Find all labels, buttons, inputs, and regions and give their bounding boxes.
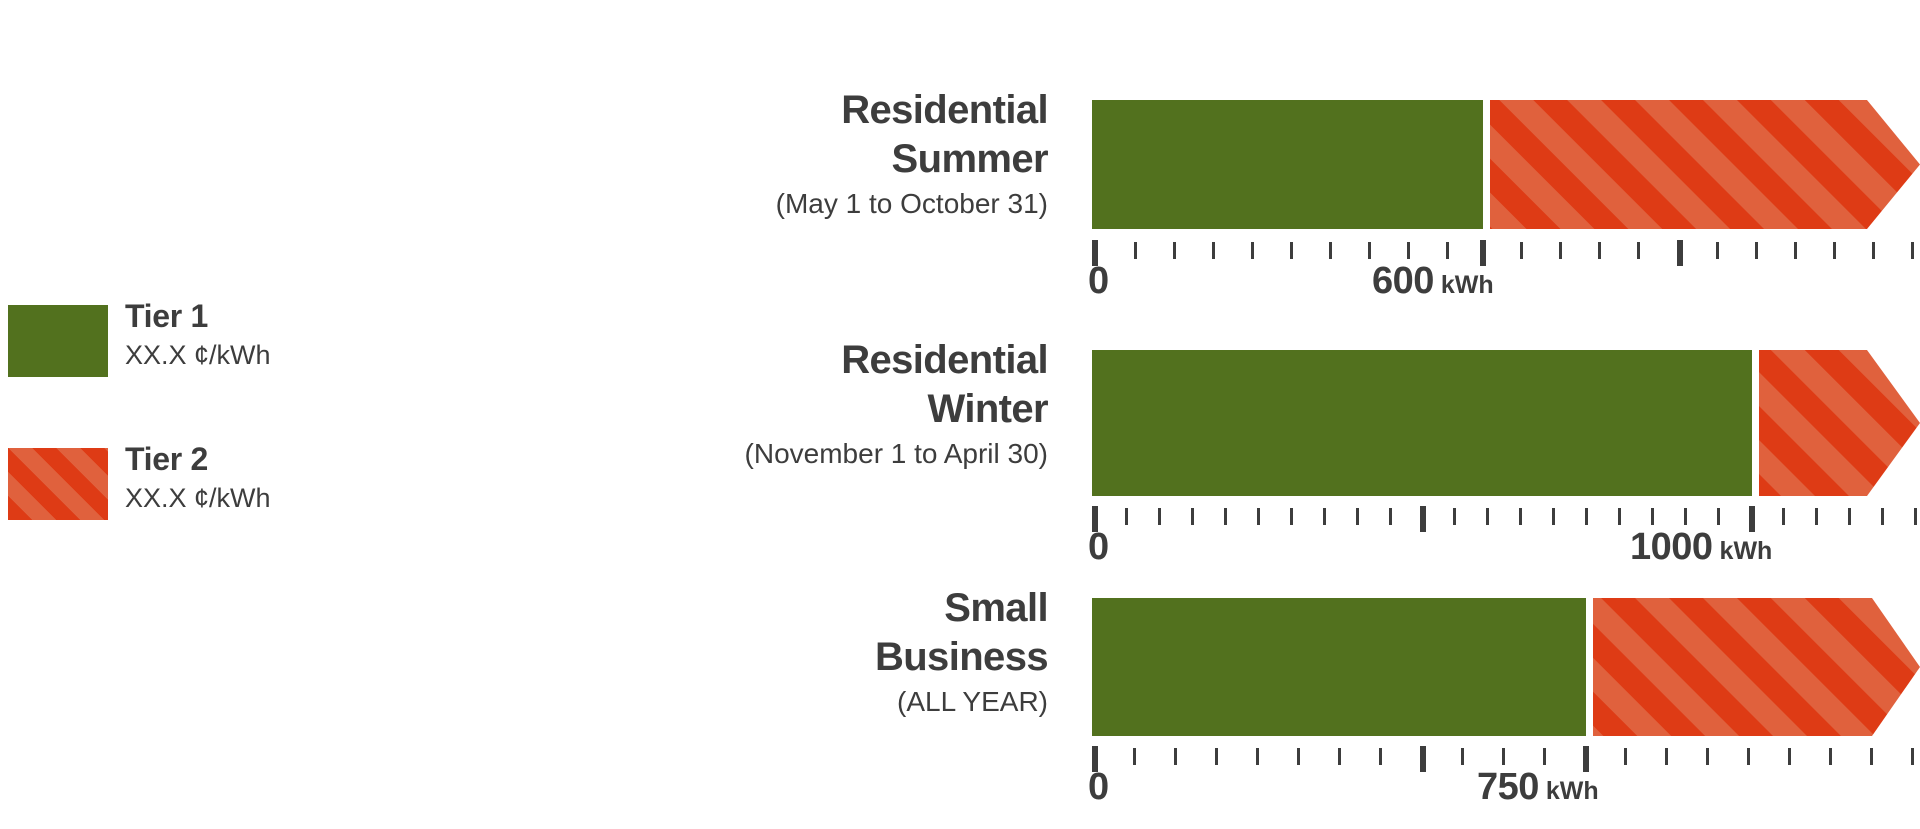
axis-label-threshold: 600kWh bbox=[1372, 258, 1494, 312]
row-title-line1: Residential bbox=[408, 336, 1048, 385]
axis-ticks-residential-winter bbox=[1092, 506, 1920, 532]
axis-label-threshold: 1000kWh bbox=[1630, 524, 1772, 578]
bar-residential-winter-svg bbox=[1092, 350, 1920, 496]
bar-residential-summer bbox=[1092, 100, 1920, 229]
row-period-label: (ALL YEAR) bbox=[408, 682, 1048, 722]
axis-labels-residential-summer: 0 600kWh bbox=[1092, 266, 1920, 312]
axis-labels-residential-winter: 0 1000kWh bbox=[1092, 532, 1920, 578]
axis-unit-label: kWh bbox=[1720, 537, 1773, 565]
bar-residential-winter bbox=[1092, 350, 1920, 496]
axis-labels-small-business: 0 750kWh bbox=[1092, 772, 1920, 818]
row-title-line1: Small bbox=[408, 584, 1048, 633]
row-period-label: (November 1 to April 30) bbox=[408, 434, 1048, 474]
tier-threshold-chart: Residential Summer (May 1 to October 31) bbox=[0, 0, 1920, 829]
tier1-segment bbox=[1092, 350, 1752, 496]
axis-label-zero: 0 bbox=[1088, 764, 1109, 818]
axis-ticks-residential-summer bbox=[1092, 240, 1920, 266]
axis-zero-value: 0 bbox=[1088, 766, 1109, 808]
tier2-segment bbox=[1593, 598, 1920, 736]
row-label-residential-winter: Residential Winter (November 1 to April … bbox=[408, 336, 1048, 474]
row-period-label: (May 1 to October 31) bbox=[408, 184, 1048, 224]
axis-zero-value: 0 bbox=[1088, 260, 1109, 302]
axis-threshold-value: 600 bbox=[1372, 260, 1434, 302]
tier1-segment bbox=[1092, 100, 1483, 229]
bar-small-business bbox=[1092, 598, 1920, 736]
axis-label-zero: 0 bbox=[1088, 258, 1109, 312]
axis-unit-label: kWh bbox=[1546, 777, 1599, 805]
row-label-small-business: Small Business (ALL YEAR) bbox=[408, 584, 1048, 722]
row-title-line2: Summer bbox=[408, 135, 1048, 184]
row-label-residential-summer: Residential Summer (May 1 to October 31) bbox=[408, 86, 1048, 224]
tier2-segment bbox=[1490, 100, 1920, 229]
tier1-segment bbox=[1092, 598, 1586, 736]
tier2-segment bbox=[1759, 350, 1920, 496]
axis-zero-value: 0 bbox=[1088, 526, 1109, 568]
axis-label-threshold: 750kWh bbox=[1477, 764, 1599, 818]
bar-residential-summer-svg bbox=[1092, 100, 1920, 229]
axis-residential-summer bbox=[1092, 240, 1920, 266]
axis-label-zero: 0 bbox=[1088, 524, 1109, 578]
axis-threshold-value: 750 bbox=[1477, 766, 1539, 808]
axis-residential-winter bbox=[1092, 506, 1920, 532]
row-title-line2: Winter bbox=[408, 385, 1048, 434]
bar-small-business-svg bbox=[1092, 598, 1920, 736]
infographic-canvas: Tier 1 XX.X ¢/kWh Tier 2 XX.X ¢/kWh Resi… bbox=[0, 0, 1920, 829]
row-title-line2: Business bbox=[408, 633, 1048, 682]
axis-unit-label: kWh bbox=[1441, 271, 1494, 299]
axis-threshold-value: 1000 bbox=[1630, 526, 1713, 568]
row-title-line1: Residential bbox=[408, 86, 1048, 135]
